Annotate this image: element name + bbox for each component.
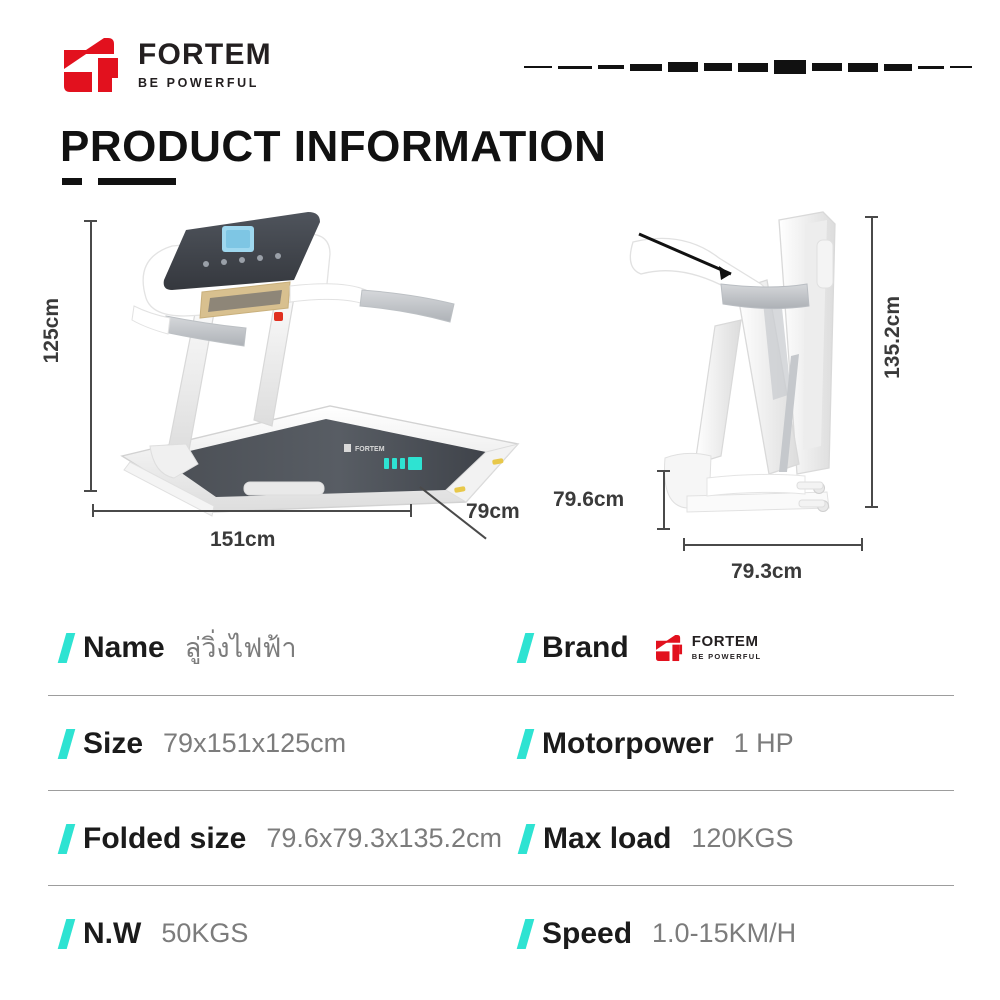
brand-tagline: BE POWERFUL <box>138 77 272 90</box>
treadmill-unfolded-figure: 125cm <box>48 198 548 598</box>
page-title: PRODUCT INFORMATION <box>60 125 606 169</box>
table-row: Name ลู่วิ่งไฟฟ้า Brand <box>48 600 954 695</box>
title-underline-decoration <box>62 178 176 185</box>
table-row: N.W 50KGS Speed 1.0-15KM/H <box>48 885 954 980</box>
folded-base-height-label: 79.6cm <box>553 488 624 512</box>
unfolded-width-label: 79cm <box>466 500 520 524</box>
spec-key: Name <box>83 631 165 665</box>
unfolded-length-label: 151cm <box>210 528 275 552</box>
brand-logo-inline: FORTEM BE POWERFUL <box>655 634 762 662</box>
spec-cell-max-load: Max load 120KGS <box>502 791 955 886</box>
folded-height-dim-line <box>871 216 873 508</box>
folded-base-cap-bottom <box>657 528 670 530</box>
brand-name: FORTEM <box>138 40 272 70</box>
table-row: Folded size 79.6x79.3x135.2cm Max load 1… <box>48 790 954 885</box>
brand-tagline: BE POWERFUL <box>692 653 762 661</box>
accent-slash-icon <box>517 919 535 949</box>
accent-slash-icon <box>58 729 76 759</box>
accent-slash-icon <box>518 824 536 854</box>
unfolded-length-dim-line <box>92 510 412 512</box>
unfolded-length-cap-left <box>92 504 94 517</box>
folded-depth-label: 79.3cm <box>731 560 802 584</box>
folded-base-height-dim-line <box>663 470 665 530</box>
spec-cell-speed: Speed 1.0-15KM/H <box>501 886 954 981</box>
spec-cell-size: Size 79x151x125cm <box>48 696 501 791</box>
fortem-logo-icon <box>655 634 685 662</box>
specification-table: Name ลู่วิ่งไฟฟ้า Brand <box>48 600 954 980</box>
spec-key: Folded size <box>83 822 246 856</box>
spec-value: 1.0-15KM/H <box>652 918 796 949</box>
folded-depth-cap-left <box>683 538 685 551</box>
spec-value: 120KGS <box>691 823 793 854</box>
spec-key: Motorpower <box>542 727 714 761</box>
brand-logo: FORTEM BE POWERFUL <box>62 36 272 94</box>
svg-text:FORTEM: FORTEM <box>355 446 385 453</box>
fortem-logo-icon <box>62 36 124 94</box>
spec-cell-motorpower: Motorpower 1 HP <box>501 696 954 791</box>
unfolded-height-dim-line <box>90 220 92 492</box>
spec-cell-name: Name ลู่วิ่งไฟฟ้า <box>48 600 501 695</box>
brand-wordmark: FORTEM BE POWERFUL <box>138 40 272 90</box>
spec-key: Speed <box>542 917 632 951</box>
treadmill-folded-figure: 135.2cm 79.6cm 79.3cm <box>565 198 985 598</box>
folded-base-cap-top <box>657 470 670 472</box>
spec-value: 50KGS <box>161 918 248 949</box>
brand-wordmark-inline: FORTEM BE POWERFUL <box>692 634 762 661</box>
page-header: FORTEM BE POWERFUL PRODUCT INFORMATION <box>0 0 1000 200</box>
product-visuals: 125cm <box>0 198 1000 598</box>
spec-key: Max load <box>543 822 671 856</box>
spec-cell-brand: Brand FORTEM BE POWERFUL <box>501 600 954 695</box>
spec-cell-folded-size: Folded size 79.6x79.3x135.2cm <box>48 791 502 886</box>
spec-value: 79.6x79.3x135.2cm <box>266 823 502 854</box>
folded-height-cap-bottom <box>865 506 878 508</box>
unfolded-height-label: 125cm <box>40 298 64 363</box>
folded-height-label: 135.2cm <box>881 296 905 379</box>
accent-slash-icon <box>58 919 76 949</box>
folded-depth-dim-line <box>683 544 863 546</box>
dashed-rule-decoration <box>524 56 972 78</box>
spec-key: N.W <box>83 917 141 951</box>
spec-cell-net-weight: N.W 50KGS <box>48 886 501 981</box>
treadmill-unfolded-photo: FORTEM <box>94 206 554 546</box>
spec-key: Brand <box>542 631 629 665</box>
title-rule-dash-long <box>98 178 176 185</box>
spec-key: Size <box>83 727 143 761</box>
accent-slash-icon <box>517 633 535 663</box>
folded-height-cap-top <box>865 216 878 218</box>
table-row: Size 79x151x125cm Motorpower 1 HP <box>48 695 954 790</box>
accent-slash-icon <box>517 729 535 759</box>
spec-value: 1 HP <box>734 728 794 759</box>
spec-value: 79x151x125cm <box>163 728 346 759</box>
title-rule-dash-short <box>62 178 82 185</box>
spec-value: ลู่วิ่งไฟฟ้า <box>185 626 297 669</box>
folded-depth-cap-right <box>861 538 863 551</box>
unfolded-length-cap-right <box>410 504 412 517</box>
brand-name: FORTEM <box>692 634 762 649</box>
product-information-page: FORTEM BE POWERFUL PRODUCT INFORMATION <box>0 0 1000 1000</box>
accent-slash-icon <box>58 824 76 854</box>
accent-slash-icon <box>58 633 76 663</box>
